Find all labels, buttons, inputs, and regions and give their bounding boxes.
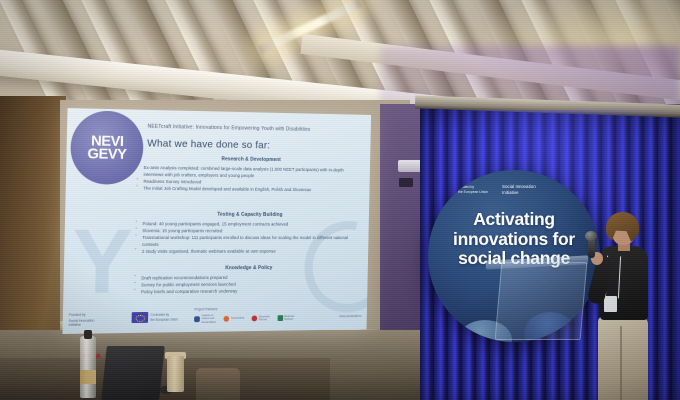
list-item: 2 study visits organised, thematic webin… <box>133 248 361 255</box>
partner-name: Slovenian Partner <box>259 315 270 322</box>
laptop <box>101 346 165 400</box>
conference-room-photo: Y NEVI GEVY NEETcraft Initiative: Innova… <box>0 0 680 400</box>
eu-flag-icon <box>442 185 455 194</box>
list-item: Transnational workshop: 111 participants… <box>133 234 361 248</box>
eu-badge-text: Funded by the European Union <box>458 185 488 194</box>
eu-funding-text: Co-funded by the European Union <box>150 313 177 322</box>
partners-label: Project Partners <box>194 306 363 312</box>
partner-mark-icon <box>194 316 200 322</box>
ceiling <box>0 0 680 112</box>
funded-by-label: Funded by <box>69 312 95 316</box>
lectern <box>495 262 588 340</box>
bullet-list: Ex-ante Analysis completed: combined lar… <box>134 163 362 193</box>
bottle-cap <box>84 330 92 339</box>
partner-logo: Regional Network <box>277 315 294 322</box>
social-innovation-label: Social Innovation Initiative <box>69 318 95 328</box>
section-testing-capacity: Testing & Capacity Building Poland: 40 y… <box>133 211 362 255</box>
section-heading: Knowledge & Policy <box>133 265 361 272</box>
partner-logos: Project Partners Institute of Labour and… <box>194 306 363 324</box>
initiative-text: Social Innovation Initiative <box>502 184 536 195</box>
watermark-y-icon: Y <box>71 226 133 299</box>
eu-flag-icon <box>132 312 149 323</box>
bottle-label <box>80 370 96 384</box>
slide-header: NEETcraft Initiative: Innovations for Em… <box>147 124 365 134</box>
section-research-development: Research & Development Ex-ante Analysis … <box>134 155 363 193</box>
coffee-cup <box>167 356 184 392</box>
social-innovation-badge: Social Innovation Initiative <box>502 184 536 195</box>
partner-mark-icon <box>252 315 258 321</box>
slide-title: What we have done so far: <box>147 137 270 151</box>
chair <box>196 368 240 400</box>
website-url: www.neetcraft.eu <box>339 314 361 318</box>
speaker-trousers <box>598 316 648 400</box>
eu-funding-badge: Co-funded by the European Union <box>132 312 178 323</box>
slide-footer-funded: Funded by Social Innovation Initiative <box>69 312 95 327</box>
nevi-gevy-logo: NEVI GEVY <box>70 110 144 185</box>
partner-name: Institute of Labour and Social Affairs <box>201 314 216 324</box>
partner-logo: Slovenian Partner <box>252 315 270 322</box>
eu-badge: Funded by the European Union <box>442 184 488 195</box>
partner-logo: Institute of Labour and Social Affairs <box>194 314 216 324</box>
partner-name: Cooperativa <box>231 317 245 320</box>
section-heading: Research & Development <box>135 155 363 164</box>
section-knowledge-policy: Knowledge & Policy Draft replication rec… <box>132 265 361 295</box>
bullet-list: Poland: 40 young participants engaged, 1… <box>133 220 362 255</box>
wall-sign <box>399 178 413 187</box>
list-item: The initial Job Crafting Model developed… <box>134 185 362 194</box>
projected-slide: Y NEVI GEVY NEETcraft Initiative: Innova… <box>62 108 371 334</box>
microphone-head-icon <box>585 231 597 241</box>
backdrop-title-line-2: innovations for <box>432 230 596 250</box>
partner-mark-icon <box>224 316 230 322</box>
logo-line-2: GEVY <box>87 146 126 161</box>
speaker-badge <box>604 296 617 312</box>
partner-name: Regional Network <box>284 315 294 322</box>
water-bottle <box>80 336 96 398</box>
bullet-list: Draft replication recommendations prepar… <box>132 273 360 295</box>
partner-logo: Cooperativa <box>224 316 245 322</box>
section-heading: Testing & Capacity Building <box>134 211 362 218</box>
partner-mark-icon <box>277 315 283 321</box>
backdrop-title-line-1: Activating <box>432 210 596 230</box>
